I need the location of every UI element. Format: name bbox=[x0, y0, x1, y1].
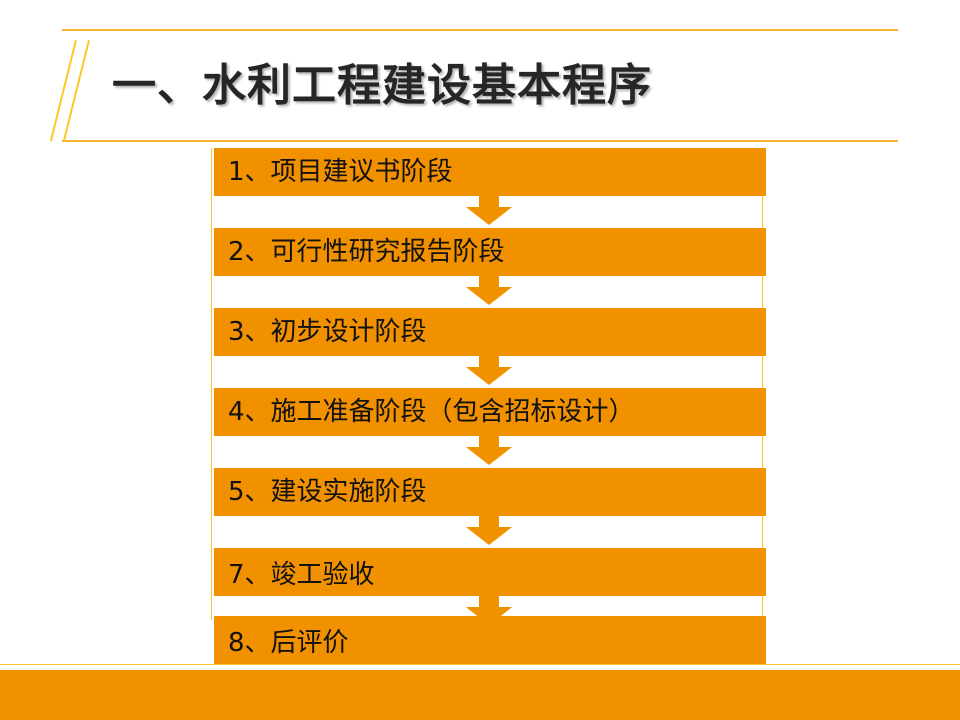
arrow-head bbox=[466, 207, 512, 225]
flow-step-2[interactable]: 2、可行性研究报告阶段 bbox=[214, 228, 766, 276]
flow-connector-arrow-down-4 bbox=[466, 436, 512, 464]
flow-connector-arrow-down-5 bbox=[466, 516, 512, 544]
flow-connector-arrow-down-1 bbox=[466, 196, 512, 224]
arrow-head bbox=[466, 447, 512, 465]
flow-step-4-label: 4、施工准备阶段（包含招标设计） bbox=[214, 397, 635, 427]
flow-step-5[interactable]: 5、建设实施阶段 bbox=[214, 468, 766, 516]
flow-connector-arrow-down-2 bbox=[466, 276, 512, 304]
footer-rule bbox=[0, 664, 960, 665]
flow-step-1-label: 1、项目建议书阶段 bbox=[214, 157, 453, 187]
decorative-slash-icon-left bbox=[50, 40, 77, 141]
flow-step-4[interactable]: 4、施工准备阶段（包含招标设计） bbox=[214, 388, 766, 436]
flow-step-7-box[interactable]: 7、竣工验收 bbox=[214, 548, 766, 596]
flow-step-2-label: 2、可行性研究报告阶段 bbox=[214, 237, 505, 267]
title-top-rule bbox=[62, 29, 898, 31]
flow-guide-line-left bbox=[211, 148, 212, 620]
flow-step-5-label: 5、建设实施阶段 bbox=[214, 477, 427, 507]
flow-step-7-text: 7、竣工验收 bbox=[214, 554, 375, 591]
page-title: 一、水利工程建设基本程序 bbox=[112, 58, 652, 114]
slide-canvas: 一、水利工程建设基本程序 北合员水印 1、项目建议书阶段 2、可行性研究报告阶段… bbox=[0, 0, 960, 720]
flow-step-8-box[interactable]: 8、后评价 bbox=[214, 616, 766, 664]
flow-step-3[interactable]: 3、初步设计阶段 bbox=[214, 308, 766, 356]
decorative-slash-icon-right bbox=[63, 40, 90, 141]
flow-connector-arrow-down-3 bbox=[466, 356, 512, 384]
footer-bar bbox=[0, 670, 960, 720]
flow-step-1[interactable]: 1、项目建议书阶段 bbox=[214, 148, 766, 196]
title-bottom-rule bbox=[62, 140, 898, 142]
arrow-head bbox=[466, 527, 512, 545]
flow-step-3-label: 3、初步设计阶段 bbox=[214, 317, 427, 347]
arrow-head bbox=[466, 287, 512, 305]
arrow-head bbox=[466, 367, 512, 385]
flow-step-8-text: 8、后评价 bbox=[214, 622, 349, 659]
